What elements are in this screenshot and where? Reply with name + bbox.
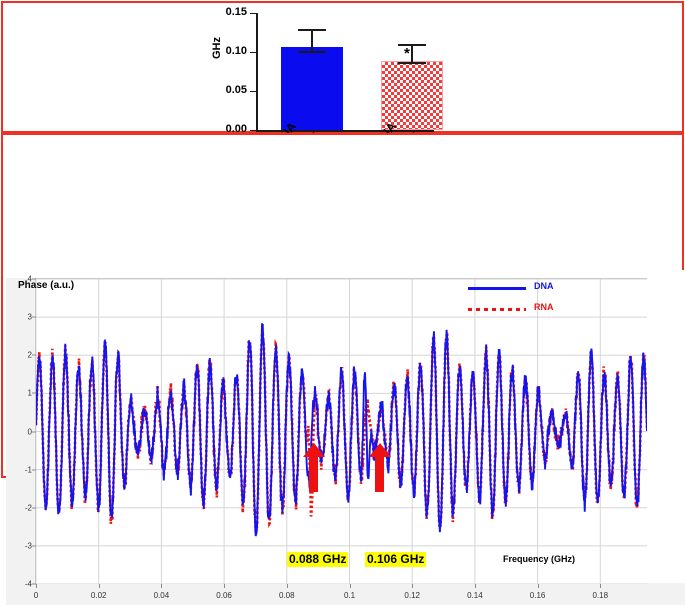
x-tick-label: 0.18 xyxy=(593,591,609,600)
x-tick-mark xyxy=(538,584,539,588)
bar-chart-y-tick: 0.00 xyxy=(250,130,257,131)
y-tick-mark xyxy=(32,469,36,470)
x-tick-label: 0.08 xyxy=(279,591,295,600)
bar-rna xyxy=(381,61,443,130)
line-chart-panel: 4 3 2 1 0 -1 -2 -3 -4 0 xyxy=(1,133,684,478)
bar-chart-y-tick-label: 0.15 xyxy=(226,6,247,18)
y-tick-mark xyxy=(32,431,36,432)
legend-item-dna: DNA xyxy=(468,281,578,295)
annotation-0106: 0.106 GHz xyxy=(365,552,426,567)
y-tick-mark xyxy=(32,507,36,508)
x-tick-mark xyxy=(36,584,37,588)
dna-trace xyxy=(36,323,647,536)
x-tick-label: 0.06 xyxy=(216,591,232,600)
y-tick-label: -1 xyxy=(25,465,32,474)
legend: DNA RNA xyxy=(468,281,578,323)
x-tick-mark xyxy=(99,584,100,588)
x-tick-label: 0.14 xyxy=(467,591,483,600)
y-tick-mark xyxy=(32,545,36,546)
plot-area: 4 3 2 1 0 -1 -2 -3 -4 0 xyxy=(35,278,647,584)
y-tick-label: 2 xyxy=(28,351,32,360)
x-tick-mark xyxy=(224,584,225,588)
y-tick-label: -3 xyxy=(25,541,32,550)
x-tick-label: 0.1 xyxy=(344,591,355,600)
y-tick-mark xyxy=(32,317,36,318)
y-tick-mark xyxy=(32,355,36,356)
bar-chart-y-tick: 0.05 xyxy=(250,91,257,92)
x-tick-mark xyxy=(287,584,288,588)
x-tick-mark xyxy=(412,584,413,588)
x-tick-mark xyxy=(350,584,351,588)
bar-chart-y-tick-label: 0.10 xyxy=(226,45,247,57)
y-tick-label: 3 xyxy=(28,313,32,322)
y-tick-mark xyxy=(32,393,36,394)
y-tick-label: -2 xyxy=(25,503,32,512)
x-tick-mark xyxy=(475,584,476,588)
annotation-0088: 0.088 GHz xyxy=(287,552,348,567)
bar-chart-y-axis-title: GHz xyxy=(211,37,223,59)
waveform-traces xyxy=(36,279,647,584)
x-tick-label: 0.04 xyxy=(154,591,170,600)
legend-line-rna xyxy=(468,308,526,311)
x-tick-label: 0.16 xyxy=(530,591,546,600)
y-tick-label: -4 xyxy=(25,580,32,589)
x-tick-mark xyxy=(600,584,601,588)
significance-asterisk: * xyxy=(404,45,410,62)
x-tick-label: 0 xyxy=(34,591,38,600)
x-axis-title: Frequency (GHz) xyxy=(503,554,575,564)
x-tick-mark xyxy=(161,584,162,588)
bar-dna xyxy=(281,47,343,130)
bar-chart-panel: GHz 0.15 0.10 0.05 0.00 xyxy=(1,1,684,133)
x-tick-label: 0.12 xyxy=(404,591,420,600)
legend-line-dna xyxy=(468,287,526,290)
bar-chart-y-tick-label: 0.05 xyxy=(226,84,247,96)
figure-container: GHz 0.15 0.10 0.05 0.00 xyxy=(0,0,685,479)
bar-chart-plot-area: * xyxy=(257,13,433,130)
x-tick-label: 0.02 xyxy=(91,591,107,600)
bar-chart-y-tick: 0.10 xyxy=(250,52,257,53)
line-chart: 4 3 2 1 0 -1 -2 -3 -4 0 xyxy=(6,270,685,611)
legend-label-rna: RNA xyxy=(534,302,554,312)
bar-chart-y-tick: 0.15 xyxy=(250,13,257,14)
y-tick-label: 1 xyxy=(28,389,32,398)
y-tick-label: 0 xyxy=(28,427,32,436)
legend-label-dna: DNA xyxy=(534,281,554,291)
y-axis-title: Phase (a.u.) xyxy=(18,280,74,291)
bar-chart: GHz 0.15 0.10 0.05 0.00 xyxy=(215,7,445,135)
legend-item-rna: RNA xyxy=(468,302,578,316)
